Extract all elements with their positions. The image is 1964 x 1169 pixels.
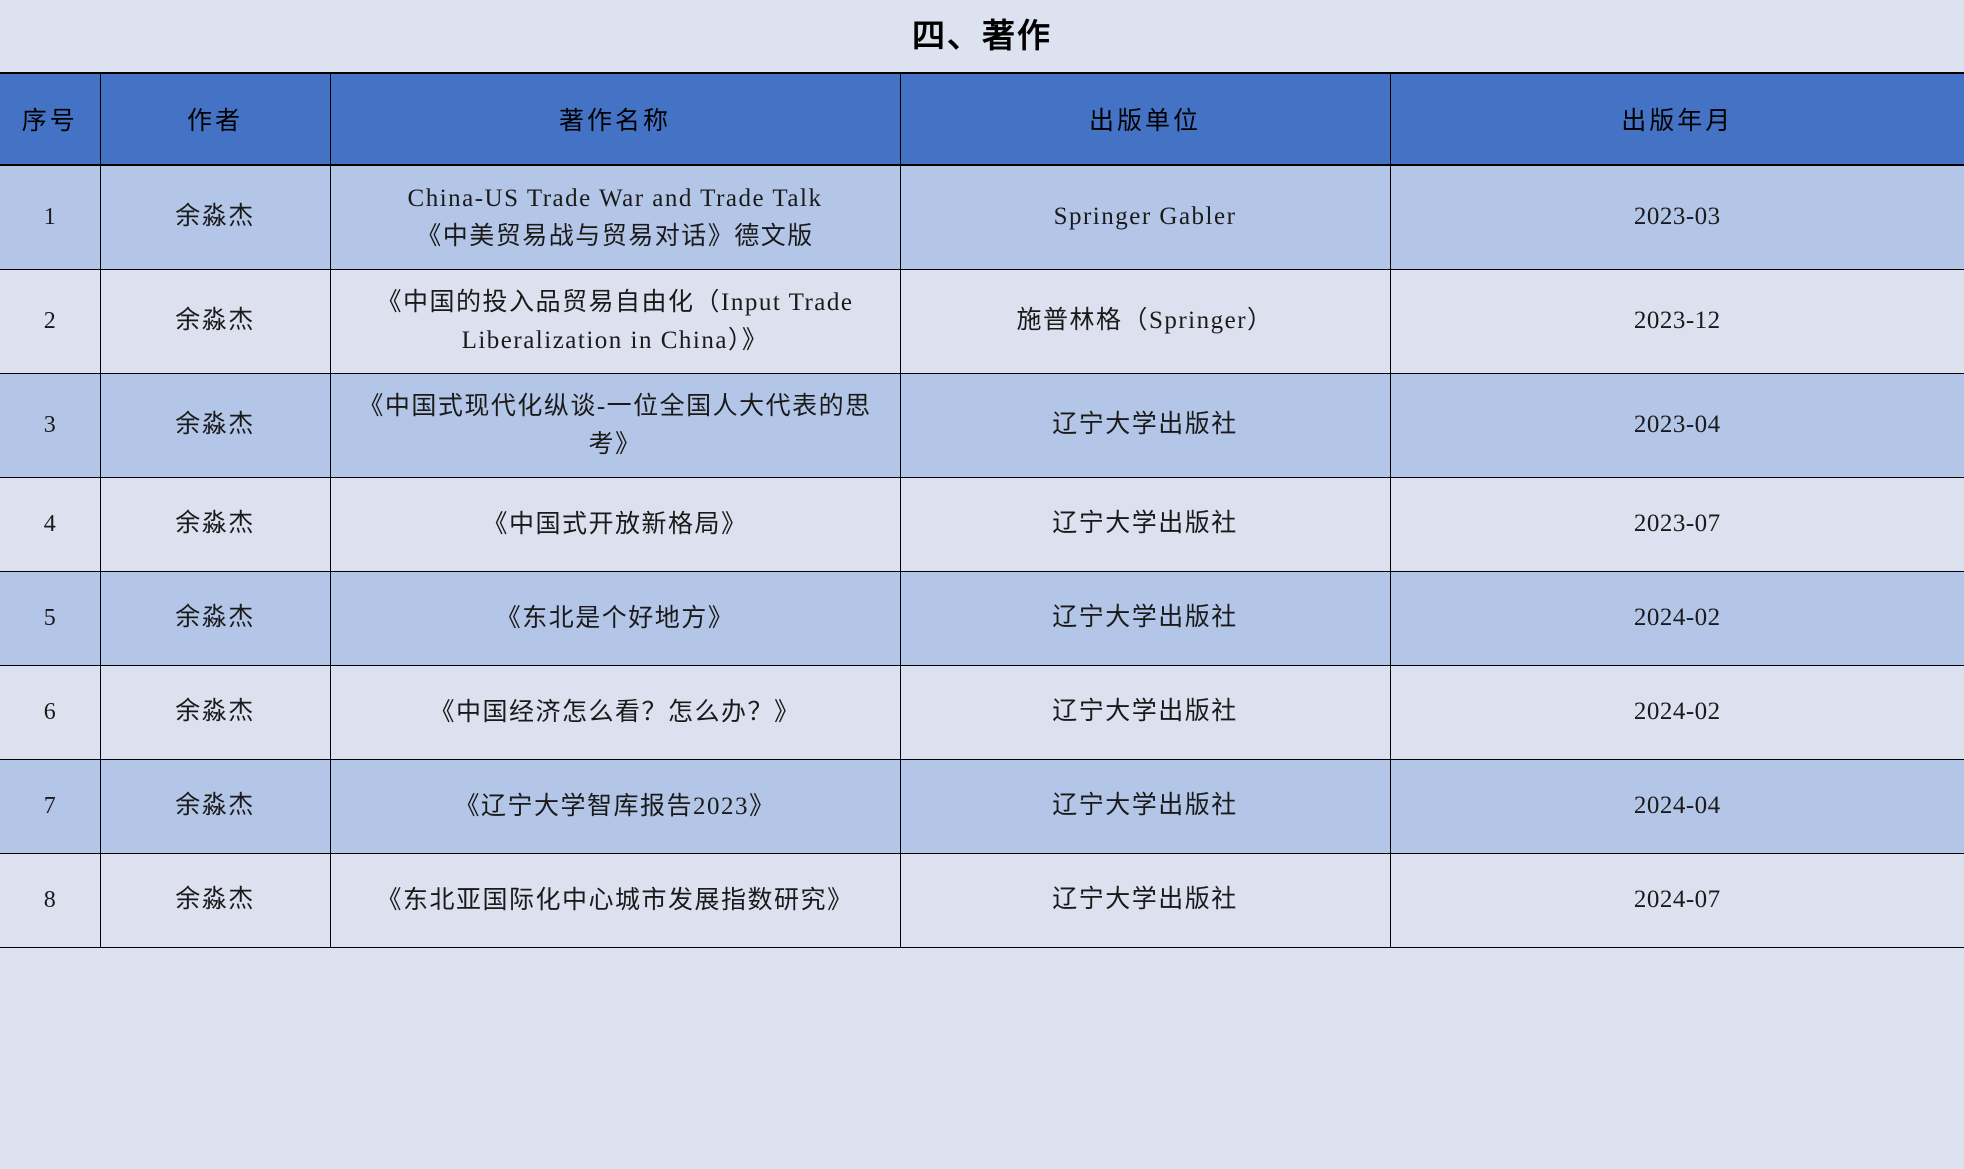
- table-row: 1 余淼杰 China-US Trade War and Trade Talk …: [0, 165, 1964, 270]
- cell-index: 1: [0, 165, 100, 270]
- table-row: 2 余淼杰 《中国的投入品贸易自由化（Input Trade Liberaliz…: [0, 270, 1964, 374]
- cell-index: 6: [0, 666, 100, 760]
- work-line-1: 《辽宁大学智库报告2023》: [341, 788, 890, 826]
- cell-publisher: 辽宁大学出版社: [900, 666, 1390, 760]
- cell-author: 余淼杰: [100, 270, 330, 374]
- cell-index: 5: [0, 572, 100, 666]
- cell-index: 8: [0, 854, 100, 948]
- work-line-2: 《中美贸易战与贸易对话》德文版: [341, 218, 890, 256]
- cell-publisher: 施普林格（Springer）: [900, 270, 1390, 374]
- cell-work: 《东北亚国际化中心城市发展指数研究》: [330, 854, 900, 948]
- table-body: 1 余淼杰 China-US Trade War and Trade Talk …: [0, 165, 1964, 948]
- work-line-1: 《中国式现代化纵谈-一位全国人大代表的思考》: [341, 388, 890, 463]
- cell-index: 2: [0, 270, 100, 374]
- cell-date: 2024-02: [1390, 572, 1964, 666]
- work-line-1: 《东北是个好地方》: [341, 600, 890, 638]
- cell-author: 余淼杰: [100, 374, 330, 478]
- cell-index: 4: [0, 478, 100, 572]
- cell-work: 《辽宁大学智库报告2023》: [330, 760, 900, 854]
- column-header-index: 序号: [0, 73, 100, 165]
- column-header-date: 出版年月: [1390, 73, 1964, 165]
- cell-publisher: 辽宁大学出版社: [900, 572, 1390, 666]
- work-line-1: 《中国的投入品贸易自由化（Input Trade: [341, 284, 890, 322]
- document-page: 四、著作 序号 作者 著作名称 出版单位 出版年月 1 余淼杰 China-U: [0, 0, 1964, 1169]
- cell-index: 7: [0, 760, 100, 854]
- work-line-1: 《中国式开放新格局》: [341, 506, 890, 544]
- cell-date: 2023-07: [1390, 478, 1964, 572]
- cell-publisher: Springer Gabler: [900, 165, 1390, 270]
- cell-author: 余淼杰: [100, 854, 330, 948]
- cell-author: 余淼杰: [100, 760, 330, 854]
- cell-author: 余淼杰: [100, 478, 330, 572]
- page-title: 四、著作: [0, 0, 1964, 72]
- cell-work: 《中国式开放新格局》: [330, 478, 900, 572]
- cell-date: 2024-04: [1390, 760, 1964, 854]
- work-line-1: China-US Trade War and Trade Talk: [341, 180, 890, 218]
- cell-author: 余淼杰: [100, 165, 330, 270]
- work-line-1: 《中国经济怎么看？怎么办？》: [341, 694, 890, 732]
- cell-date: 2023-03: [1390, 165, 1964, 270]
- cell-date: 2024-02: [1390, 666, 1964, 760]
- cell-work: 《中国式现代化纵谈-一位全国人大代表的思考》: [330, 374, 900, 478]
- cell-publisher: 辽宁大学出版社: [900, 374, 1390, 478]
- table-row: 6 余淼杰 《中国经济怎么看？怎么办？》 辽宁大学出版社 2024-02: [0, 666, 1964, 760]
- cell-work: China-US Trade War and Trade Talk 《中美贸易战…: [330, 165, 900, 270]
- table-header-row: 序号 作者 著作名称 出版单位 出版年月: [0, 73, 1964, 165]
- works-table: 序号 作者 著作名称 出版单位 出版年月 1 余淼杰 China-US Trad…: [0, 72, 1964, 948]
- cell-author: 余淼杰: [100, 572, 330, 666]
- column-header-work: 著作名称: [330, 73, 900, 165]
- cell-date: 2023-12: [1390, 270, 1964, 374]
- cell-publisher: 辽宁大学出版社: [900, 854, 1390, 948]
- table-row: 7 余淼杰 《辽宁大学智库报告2023》 辽宁大学出版社 2024-04: [0, 760, 1964, 854]
- work-line-2: Liberalization in China）》: [341, 322, 890, 360]
- cell-publisher: 辽宁大学出版社: [900, 760, 1390, 854]
- cell-date: 2024-07: [1390, 854, 1964, 948]
- table-row: 4 余淼杰 《中国式开放新格局》 辽宁大学出版社 2023-07: [0, 478, 1964, 572]
- table-row: 3 余淼杰 《中国式现代化纵谈-一位全国人大代表的思考》 辽宁大学出版社 202…: [0, 374, 1964, 478]
- cell-work: 《东北是个好地方》: [330, 572, 900, 666]
- cell-date: 2023-04: [1390, 374, 1964, 478]
- work-line-1: 《东北亚国际化中心城市发展指数研究》: [341, 882, 890, 920]
- table-header: 序号 作者 著作名称 出版单位 出版年月: [0, 73, 1964, 165]
- column-header-author: 作者: [100, 73, 330, 165]
- cell-publisher: 辽宁大学出版社: [900, 478, 1390, 572]
- cell-work: 《中国经济怎么看？怎么办？》: [330, 666, 900, 760]
- cell-author: 余淼杰: [100, 666, 330, 760]
- cell-index: 3: [0, 374, 100, 478]
- table-row: 8 余淼杰 《东北亚国际化中心城市发展指数研究》 辽宁大学出版社 2024-07: [0, 854, 1964, 948]
- cell-work: 《中国的投入品贸易自由化（Input Trade Liberalization …: [330, 270, 900, 374]
- table-row: 5 余淼杰 《东北是个好地方》 辽宁大学出版社 2024-02: [0, 572, 1964, 666]
- column-header-publisher: 出版单位: [900, 73, 1390, 165]
